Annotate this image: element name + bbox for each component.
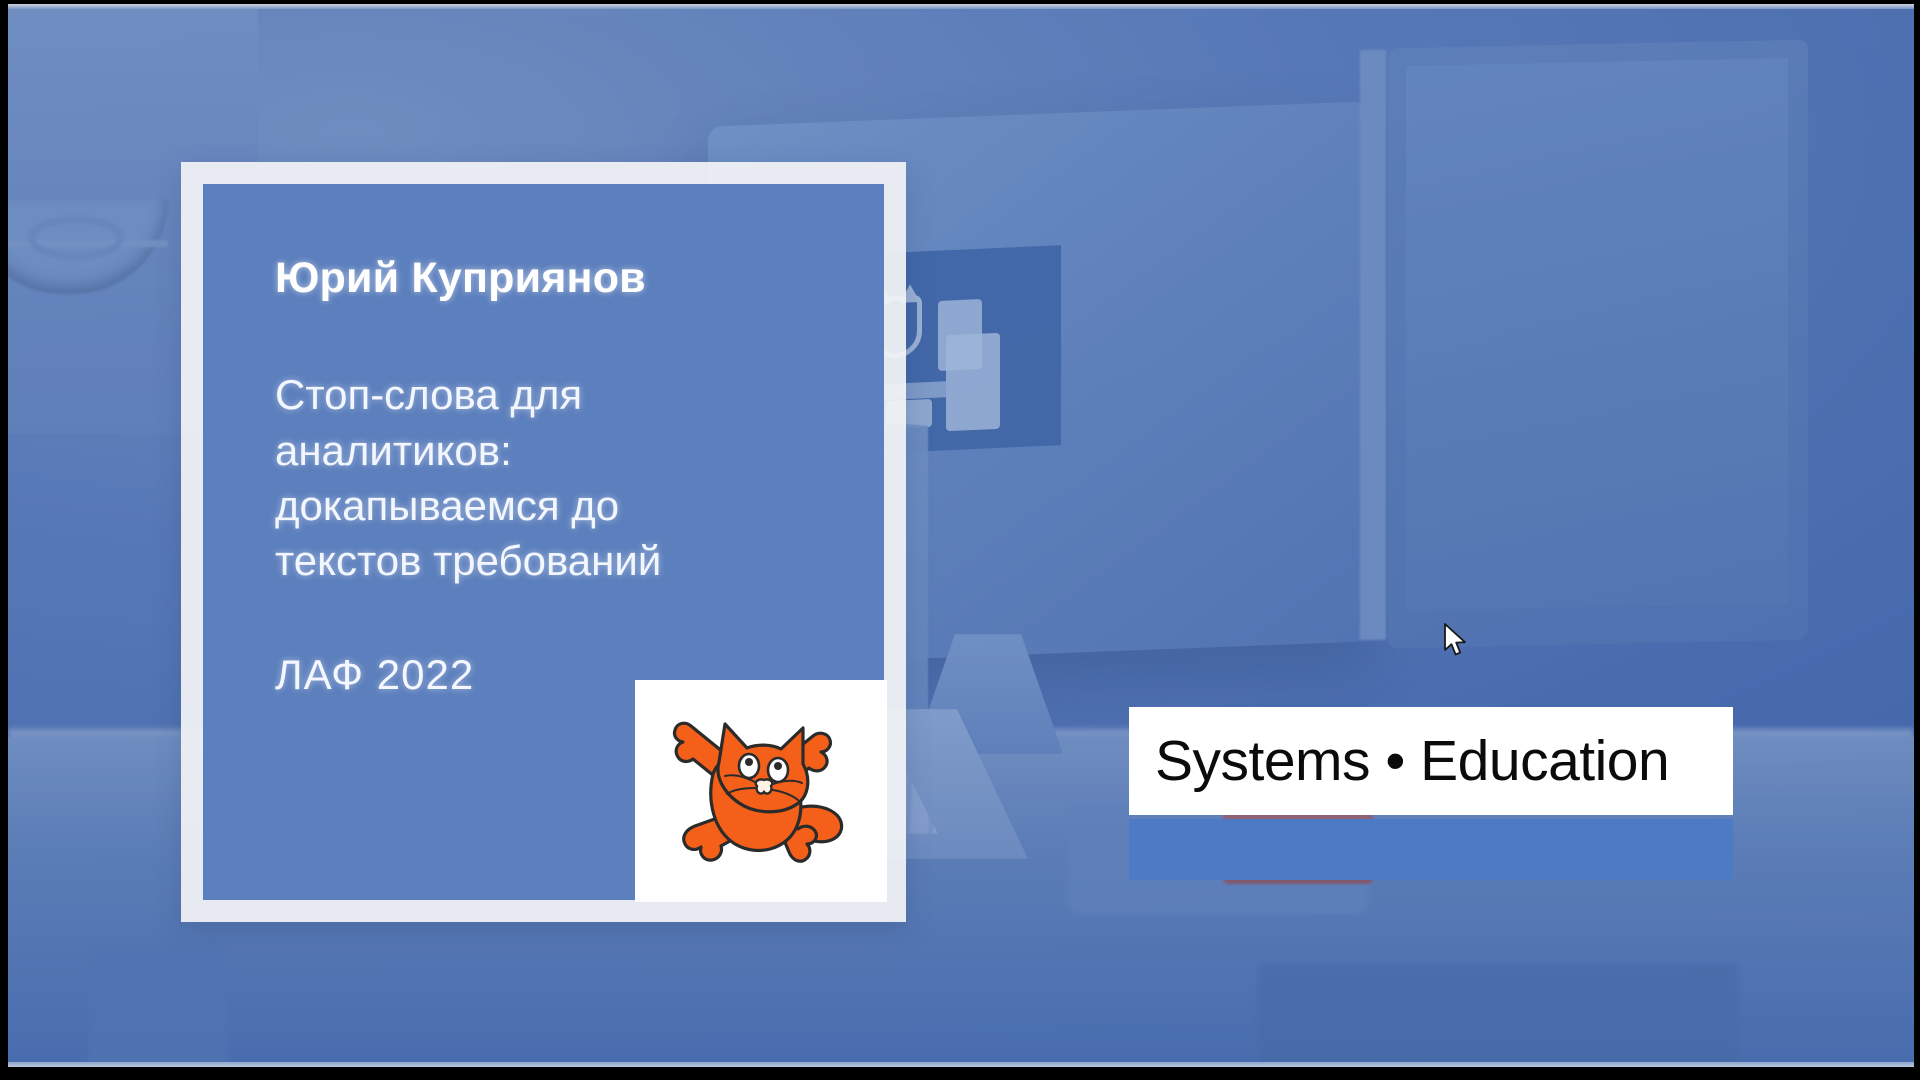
- slide-bottom-edge: [8, 1062, 1914, 1067]
- mouse-pointer-icon: [1443, 623, 1469, 659]
- slide-top-edge: [8, 4, 1914, 9]
- orange-cat-logo-tile: [635, 680, 887, 902]
- brand-logo-bar: [1129, 819, 1733, 880]
- talk-title-line: Стоп-слова для: [275, 367, 835, 422]
- brand-logo-plate: Systems • Education: [1129, 707, 1733, 815]
- talk-title: Стоп-слова для аналитиков: докапываемся …: [275, 367, 835, 589]
- slide-stage: Юрий Куприянов Стоп-слова для аналитиков…: [8, 4, 1914, 1067]
- brand-logo-text: Systems • Education: [1155, 728, 1669, 794]
- talk-title-line: докапываемся до: [275, 478, 835, 533]
- speaker-name: Юрий Куприянов: [275, 256, 858, 301]
- talk-title-line: аналитиков:: [275, 423, 835, 478]
- brand-logo: Systems • Education: [1129, 707, 1733, 880]
- talk-title-line: текстов требований: [275, 533, 835, 588]
- orange-cat-logo-icon: [661, 704, 861, 879]
- video-letterbox-frame: Юрий Куприянов Стоп-слова для аналитиков…: [0, 0, 1920, 1080]
